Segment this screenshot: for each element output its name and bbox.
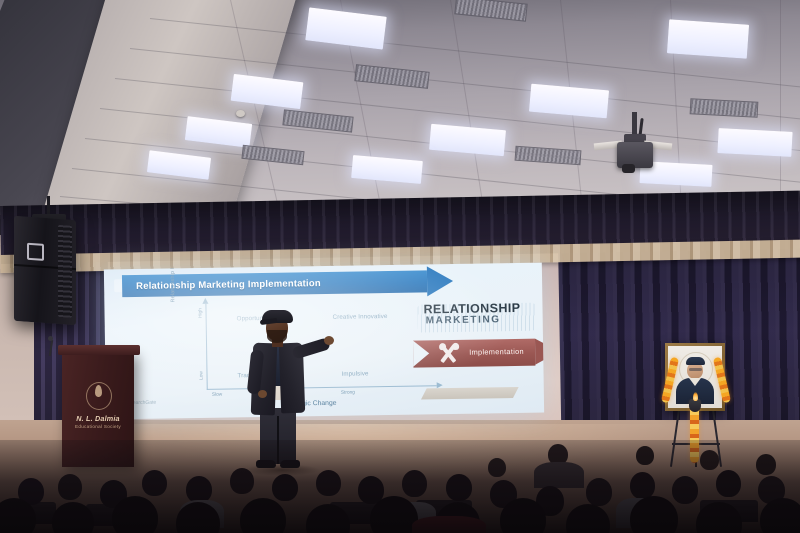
pa-line-array-speaker [14,216,76,325]
lectern-top [58,345,140,355]
chart-x-tick-high: Strong [341,391,355,396]
quadrant-label-impulsive: Impulsive [341,370,368,377]
quadrant-label-creative-innovative: Creative Innovative [333,313,388,321]
speaker-brand-logo-icon [27,243,44,261]
lamp-flame-icon [95,385,102,397]
oil-lamp-flame-icon [693,392,698,401]
slide-title-banner: Relationship Marketing Implementation [122,270,427,297]
audience [0,440,800,533]
projector-lens-icon [622,164,635,173]
ceiling-light-panel [717,128,792,157]
presenter-hand-left [258,390,267,398]
relationship-marketing-logo: RELATIONSHIP MARKETING [417,301,535,335]
slide-title: Relationship Marketing Implementation [122,278,321,292]
institution-name: N. L. Dalmia [62,414,134,423]
microphone-head-icon [48,336,53,341]
portrait-cap [686,357,705,365]
smoke-detector-icon [236,110,245,117]
portrait-glasses-icon [689,368,702,371]
slide-bottom-ribbon [421,387,519,400]
auditorium-photo: Relationship Marketing Implementation Re… [0,0,800,533]
ceiling-light-panel [667,19,749,58]
chart-y-axis [205,304,207,390]
chart-y-tick-high: High [198,308,203,318]
presenter-hand-right [324,336,334,345]
ceiling [0,0,800,215]
institution-subtitle: Educational Society [62,424,134,429]
chart-y-axis-label: Relationship Marketing implementation [169,263,176,303]
chart-y-tick-low: Low [199,371,204,380]
chart-x-tick-low: Slow [212,393,222,398]
logo-line-marketing: MARKETING [426,314,501,326]
implementation-arrow-banner: Implementation [413,339,535,368]
implementation-label: Implementation [469,347,524,357]
crossed-tools-icon [437,343,459,364]
